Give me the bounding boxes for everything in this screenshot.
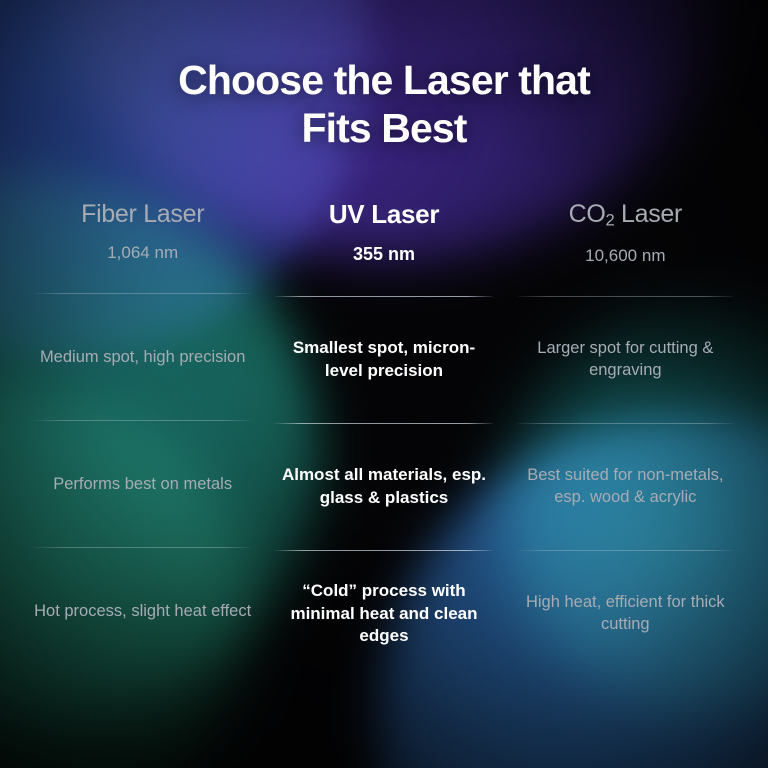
laser-wavelength-co2: 10,600 nm: [517, 246, 734, 266]
spacer-header-uv: [275, 266, 492, 296]
cell-co2-spot: Larger spot for cutting & engraving: [517, 297, 734, 423]
laser-wavelength-uv: 355 nm: [275, 244, 492, 266]
laser-name-co2: CO2 Laser: [517, 199, 734, 231]
title-line-1: Choose the Laser that: [34, 57, 734, 105]
cell-co2-materials: Best suited for non-metals, esp. wood & …: [517, 424, 734, 550]
spacer-header-co2: [517, 266, 734, 296]
laser-wavelength-fiber: 1,064 nm: [34, 243, 251, 263]
cell-uv-materials: Almost all materials, esp. glass & plast…: [275, 424, 492, 550]
cell-fiber-heat: Hot process, slight heat effect: [34, 548, 251, 674]
laser-name-co2-suffix: Laser: [614, 200, 682, 228]
cell-fiber-spot: Medium spot, high precision: [34, 294, 251, 420]
cell-co2-heat: High heat, efficient for thick cutting: [517, 551, 734, 677]
page-title: Choose the Laser that Fits Best: [34, 0, 734, 152]
column-header-fiber: Fiber Laser 1,064 nm: [34, 195, 251, 263]
column-fiber-laser: Fiber Laser 1,064 nm Medium spot, high p…: [34, 195, 251, 677]
spacer-header-fiber: [34, 263, 251, 293]
column-header-uv: UV Laser 355 nm: [275, 195, 492, 266]
column-uv-laser: UV Laser 355 nm Smallest spot, micron-le…: [275, 195, 492, 677]
cell-uv-spot: Smallest spot, micron-level precision: [275, 297, 492, 423]
title-line-2: Fits Best: [34, 105, 734, 153]
poster-canvas: Choose the Laser that Fits Best Fiber La…: [0, 0, 768, 768]
laser-name-fiber: Fiber Laser: [34, 199, 251, 229]
laser-name-co2-prefix: CO: [569, 200, 606, 228]
poster-content: Choose the Laser that Fits Best Fiber La…: [0, 0, 768, 768]
cell-fiber-materials: Performs best on metals: [34, 421, 251, 547]
laser-name-uv: UV Laser: [275, 199, 492, 230]
cell-uv-heat: “Cold” process with minimal heat and cle…: [275, 551, 492, 677]
column-header-co2: CO2 Laser 10,600 nm: [517, 195, 734, 266]
column-co2-laser: CO2 Laser 10,600 nm Larger spot for cutt…: [517, 195, 734, 677]
comparison-table: Fiber Laser 1,064 nm Medium spot, high p…: [34, 195, 734, 677]
